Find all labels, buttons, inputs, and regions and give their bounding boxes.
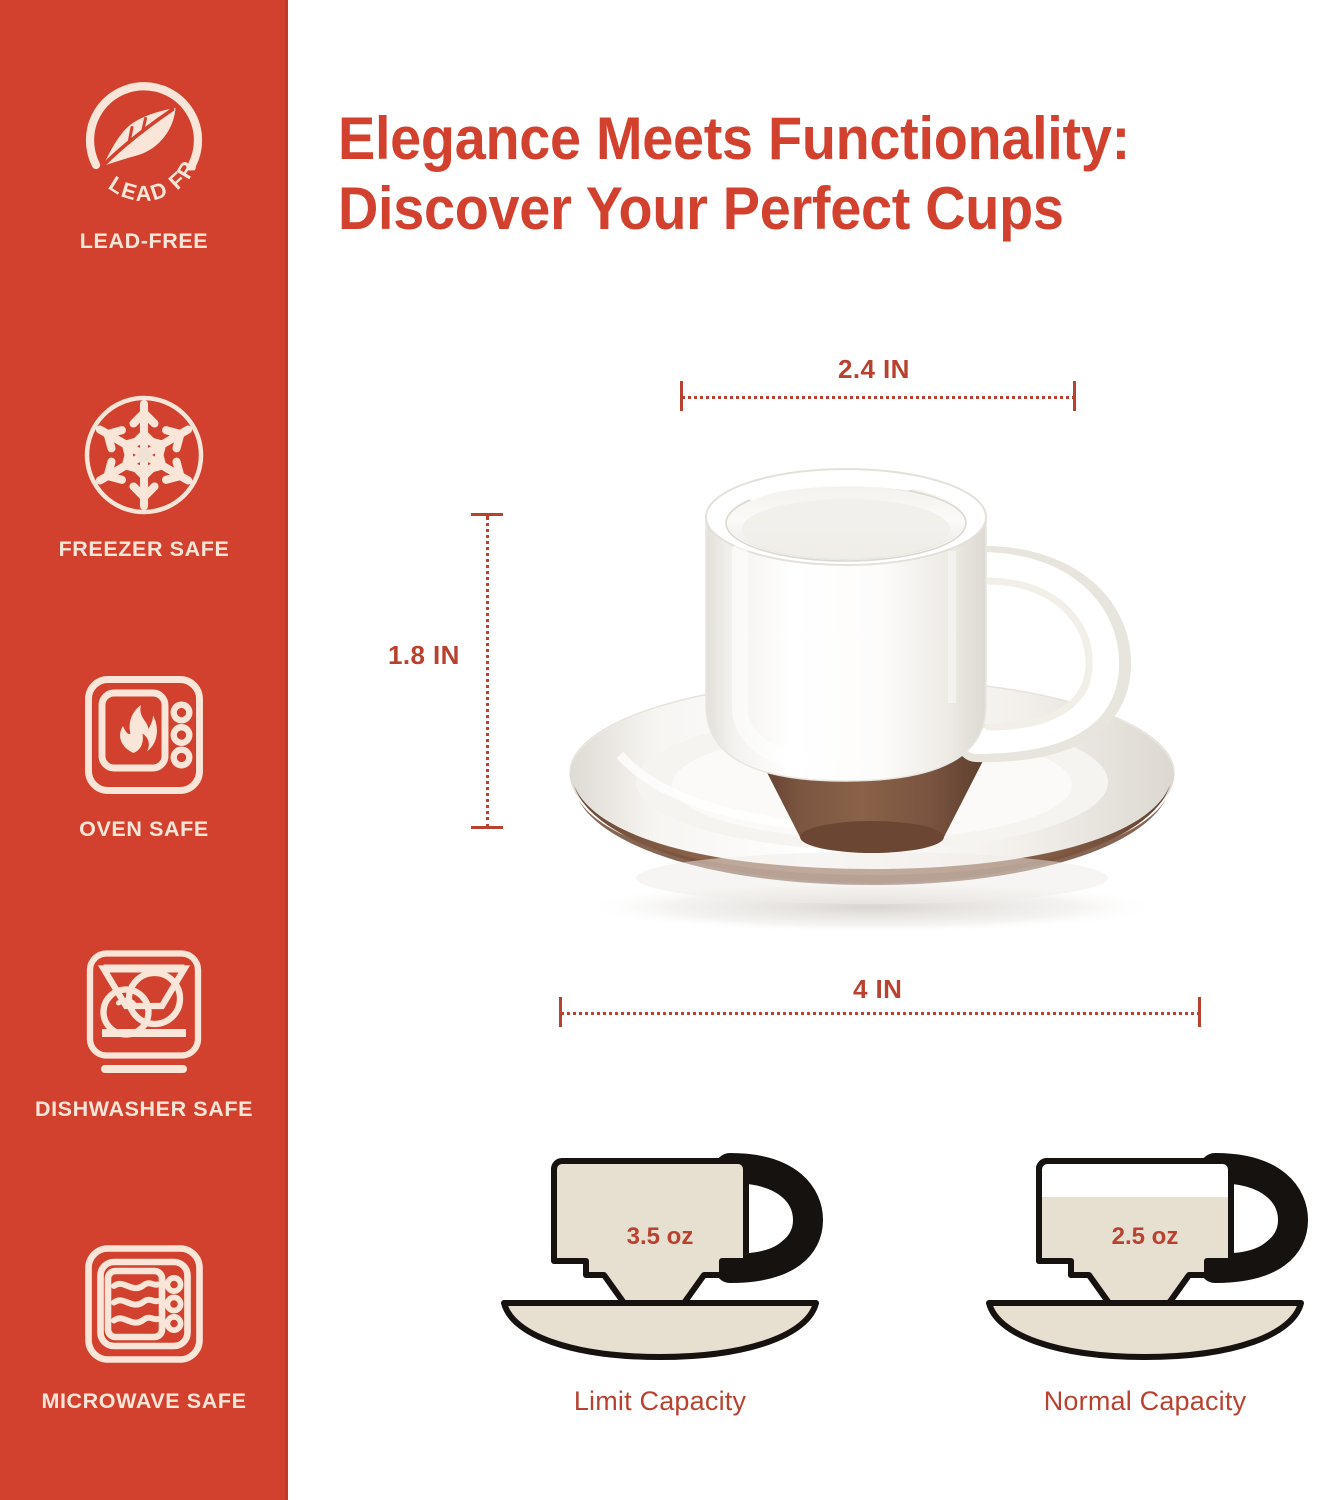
page-title-line-1: Elegance Meets Functionality: (338, 105, 1130, 172)
limit-capacity-cup-icon (490, 1135, 830, 1380)
dimension-endcap-top (471, 513, 503, 516)
snowflake-icon (69, 380, 219, 530)
sidebar-item-label: FREEZER SAFE (0, 538, 288, 562)
dimension-label-cup-diameter: 2.4 IN (838, 354, 910, 385)
dimension-line-cup-diameter (682, 396, 1075, 399)
sidebar-item-freezer-safe: FREEZER SAFE (0, 380, 288, 562)
sidebar-item-dishwasher-safe: DISHWASHER SAFE (0, 940, 288, 1122)
dimension-endcap-right (1198, 997, 1201, 1027)
features-sidebar: LEAD FREE LEAD-FREE (0, 0, 288, 1500)
normal-capacity-cup-icon (975, 1135, 1315, 1380)
dimension-line-cup-height (486, 516, 489, 828)
dimension-label-cup-height: 1.8 IN (388, 640, 460, 671)
sidebar-item-oven-safe: OVEN SAFE (0, 660, 288, 842)
dimension-endcap-left (559, 997, 562, 1027)
normal-capacity-label: Normal Capacity (975, 1386, 1315, 1417)
page-title: Elegance Meets Functionality: Discover Y… (338, 104, 1245, 243)
page-title-line-2: Discover Your Perfect Cups (338, 174, 1245, 244)
sidebar-item-lead-free: LEAD FREE LEAD-FREE (0, 72, 288, 254)
sidebar-item-label: MICROWAVE SAFE (0, 1390, 288, 1414)
oven-flame-icon (69, 660, 219, 810)
dishwasher-icon (69, 940, 219, 1090)
dimension-endcap-bottom (471, 826, 503, 829)
dimension-endcap-left (680, 381, 683, 411)
limit-capacity-label: Limit Capacity (490, 1386, 830, 1417)
capacity-diagram-normal: 2.5 oz Normal Capacity (975, 1135, 1315, 1417)
sidebar-item-label: LEAD-FREE (0, 230, 288, 254)
sidebar-item-microwave-safe: MICROWAVE SAFE (0, 1232, 288, 1414)
sidebar-item-label: DISHWASHER SAFE (0, 1098, 288, 1122)
cup-body (706, 469, 986, 781)
leaf-badge-icon: LEAD FREE (69, 72, 219, 222)
microwave-icon (69, 1232, 219, 1382)
sidebar-item-label: OVEN SAFE (0, 818, 288, 842)
dimension-line-saucer-diameter (561, 1012, 1200, 1015)
capacity-diagram-limit: 3.5 oz Limit Capacity (490, 1135, 830, 1417)
dimension-label-saucer-diameter: 4 IN (853, 974, 902, 1005)
dimension-endcap-right (1073, 381, 1076, 411)
product-photo-cup-and-saucer (500, 455, 1240, 955)
